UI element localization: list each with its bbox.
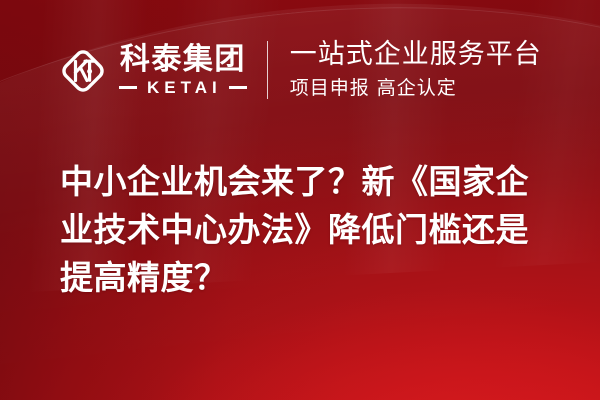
- banner-header: 科泰集团 KETAI 一站式企业服务平台 项目申报 高企认定: [0, 0, 600, 140]
- brand-name-en-row: KETAI: [119, 79, 247, 96]
- tagline-block: 一站式企业服务平台 项目申报 高企认定: [290, 40, 542, 99]
- ketai-diamond-kt-monogram-icon: [57, 45, 109, 97]
- wordmark: 科泰集团 KETAI: [119, 44, 247, 97]
- promo-banner: 科泰集团 KETAI 一站式企业服务平台 项目申报 高企认定 中小企业机会来了？…: [0, 0, 600, 400]
- header-vertical-divider: [267, 41, 268, 99]
- tagline-secondary: 项目申报 高企认定: [290, 78, 542, 100]
- tagline-primary: 一站式企业服务平台: [290, 40, 542, 70]
- wordmark-dash-left-icon: [119, 86, 137, 89]
- brand-lockup[interactable]: 科泰集团 KETAI: [57, 43, 247, 97]
- brand-name-en: KETAI: [137, 79, 229, 96]
- wordmark-dash-right-icon: [229, 86, 247, 89]
- brand-name-cn: 科泰集团: [120, 44, 246, 76]
- page-title: 中小企业机会来了？新《国家企业技术中心办法》降低门槛还是提高精度？: [60, 158, 552, 302]
